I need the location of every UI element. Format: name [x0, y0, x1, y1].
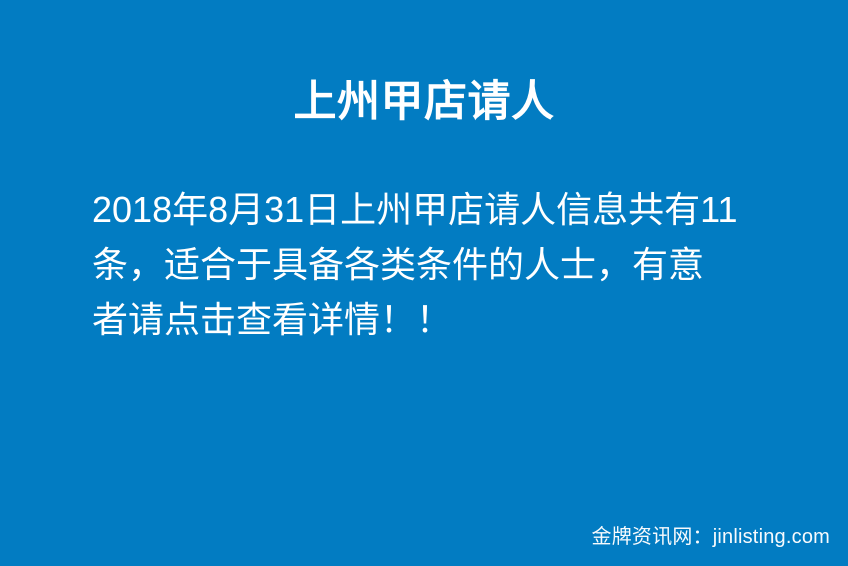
poster-canvas: 上州甲店请人 2018年8月31日上州甲店请人信息共有11 条，适合于具备各类条… [0, 0, 848, 566]
body-line-3: 者请点击查看详情！！ [92, 292, 792, 347]
body-line-2: 条，适合于具备各类条件的人士，有意 [92, 237, 792, 292]
page-title: 上州甲店请人 [294, 74, 555, 130]
footer-block: 金牌资讯网：jinlisting.com [592, 524, 830, 550]
title-block: 上州甲店请人 [0, 74, 848, 130]
body-text-block: 2018年8月31日上州甲店请人信息共有11 条，适合于具备各类条件的人士，有意… [92, 182, 792, 347]
body-line-1: 2018年8月31日上州甲店请人信息共有11 [92, 182, 792, 237]
site-watermark: 金牌资讯网：jinlisting.com [592, 524, 830, 550]
